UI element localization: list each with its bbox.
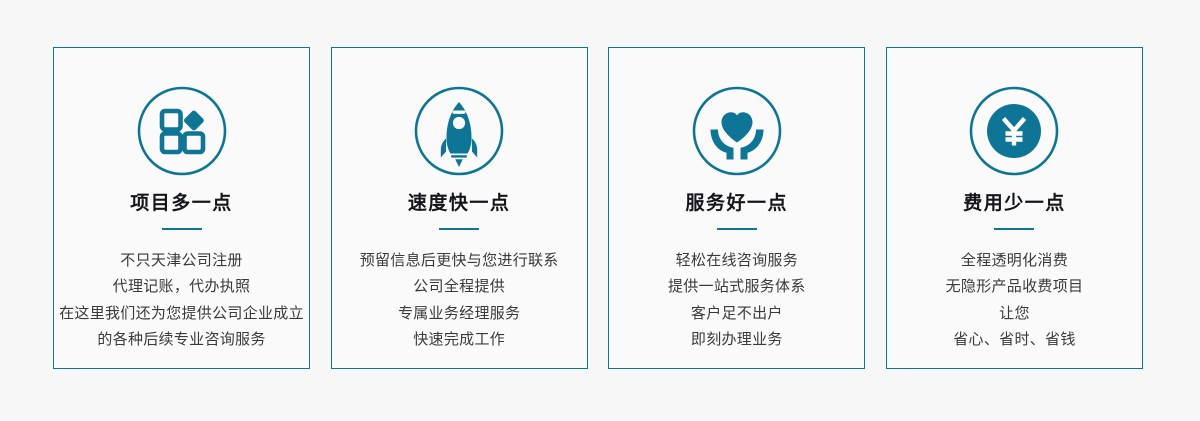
card-body-line: 的各种后续专业咨询服务: [59, 327, 304, 354]
card-body-line: 全程透明化消费: [946, 248, 1084, 275]
features-section: 项目多一点 不只天津公司注册 代理记账，代办执照 在这里我们还为您提供公司企业成…: [0, 0, 1200, 421]
card-body: 不只天津公司注册 代理记账，代办执照 在这里我们还为您提供公司企业成立 的各种后…: [59, 248, 304, 354]
card-divider: [717, 228, 757, 230]
card-body-line: 预留信息后更快与您进行联系: [360, 248, 559, 275]
feature-card-cost[interactable]: 费用少一点 全程透明化消费 无隐形产品收费项目 让您 省心、省时、省钱: [886, 47, 1143, 369]
four-blocks-icon: [136, 85, 228, 177]
card-body-line: 即刻办理业务: [668, 327, 806, 354]
card-divider: [994, 228, 1034, 230]
card-divider: [439, 228, 479, 230]
feature-cards-row: 项目多一点 不只天津公司注册 代理记账，代办执照 在这里我们还为您提供公司企业成…: [53, 47, 1143, 369]
feature-card-projects[interactable]: 项目多一点 不只天津公司注册 代理记账，代办执照 在这里我们还为您提供公司企业成…: [53, 47, 310, 369]
card-body-line: 提供一站式服务体系: [668, 274, 806, 301]
card-body-line: 客户足不出户: [668, 301, 806, 328]
card-title: 费用少一点: [963, 193, 1066, 216]
card-body: 全程透明化消费 无隐形产品收费项目 让您 省心、省时、省钱: [946, 248, 1084, 354]
card-body-line: 省心、省时、省钱: [946, 327, 1084, 354]
feature-card-speed[interactable]: 速度快一点 预留信息后更快与您进行联系 公司全程提供 专属业务经理服务 快速完成…: [331, 47, 588, 369]
card-body-line: 专属业务经理服务: [360, 301, 559, 328]
card-body-line: 轻松在线咨询服务: [668, 248, 806, 275]
card-divider: [162, 228, 202, 230]
feature-card-service[interactable]: 服务好一点 轻松在线咨询服务 提供一站式服务体系 客户足不出户 即刻办理业务: [608, 47, 865, 369]
card-body: 预留信息后更快与您进行联系 公司全程提供 专属业务经理服务 快速完成工作: [360, 248, 559, 354]
rocket-icon: [413, 85, 505, 177]
card-body-line: 让您: [946, 301, 1084, 328]
card-body-line: 在这里我们还为您提供公司企业成立: [59, 301, 304, 328]
card-body-line: 代理记账，代办执照: [59, 274, 304, 301]
card-body-line: 无隐形产品收费项目: [946, 274, 1084, 301]
card-title: 服务好一点: [686, 193, 789, 216]
card-body-line: 公司全程提供: [360, 274, 559, 301]
card-body-line: 不只天津公司注册: [59, 248, 304, 275]
card-body-line: 快速完成工作: [360, 327, 559, 354]
card-body: 轻松在线咨询服务 提供一站式服务体系 客户足不出户 即刻办理业务: [668, 248, 806, 354]
yuan-coin-icon: [968, 85, 1060, 177]
card-title: 项目多一点: [130, 193, 233, 216]
heart-in-hands-icon: [691, 85, 783, 177]
card-title: 速度快一点: [408, 193, 511, 216]
